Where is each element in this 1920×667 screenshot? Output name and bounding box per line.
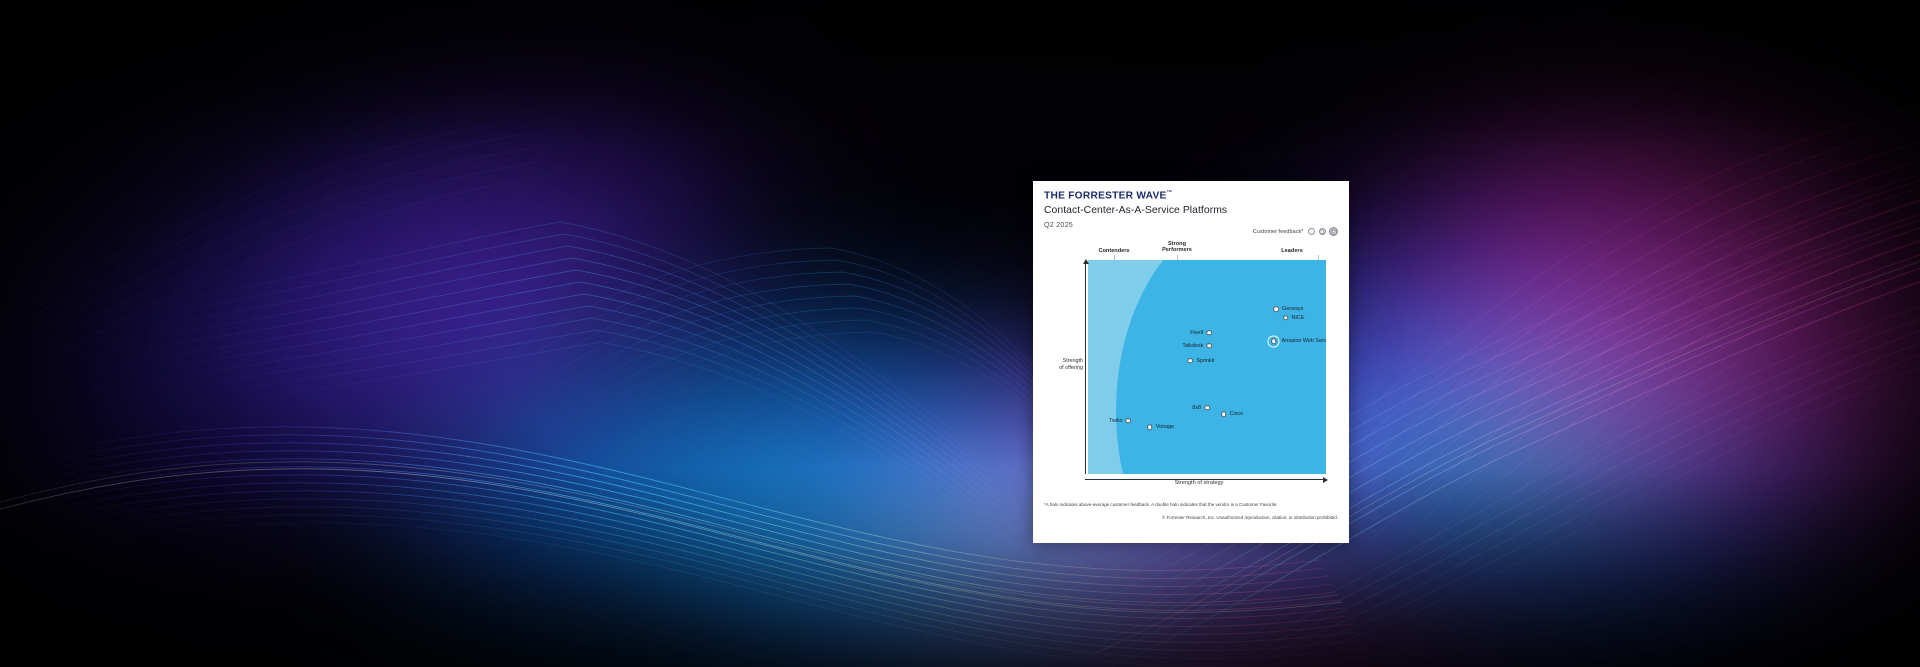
vendor-dot bbox=[1188, 358, 1194, 364]
vendor-dot bbox=[1271, 339, 1277, 345]
vendor-dot bbox=[1147, 424, 1153, 430]
quadrant-label-contenders: Contenders bbox=[1086, 248, 1142, 255]
vendor-dot bbox=[1204, 405, 1210, 411]
vendor-label: Amazon Web Services bbox=[1282, 338, 1326, 344]
vendor-dot bbox=[1283, 315, 1289, 321]
double-halo-circle-icon bbox=[1329, 227, 1338, 236]
card-eyebrow: THE FORRESTER WAVE™ bbox=[1044, 190, 1338, 202]
forrester-wave-card: THE FORRESTER WAVE™ Contact-Center-As-A-… bbox=[1033, 181, 1349, 543]
vendor-label: Vonage bbox=[1156, 424, 1174, 430]
trademark-mark: ™ bbox=[1167, 190, 1173, 196]
vendor-label: NICE bbox=[1292, 315, 1305, 321]
glow-cyan bbox=[307, 241, 1134, 667]
vendor-dot bbox=[1126, 418, 1132, 424]
wave-plot: Strengthof offering Genesys NICE Amazon … bbox=[1068, 260, 1330, 479]
legend-label: Customer feedback* bbox=[1253, 229, 1304, 235]
card-eyebrow-text: THE FORRESTER WAVE bbox=[1044, 190, 1167, 201]
vendor-dot bbox=[1221, 411, 1227, 417]
vendor-label: Cisco bbox=[1230, 411, 1243, 417]
plain-circle-icon bbox=[1308, 228, 1315, 235]
vendor-label: Twilio bbox=[1109, 418, 1122, 424]
vignette-overlay bbox=[0, 0, 1920, 667]
vendor-label: 8x8 bbox=[1192, 405, 1201, 411]
page-root: THE FORRESTER WAVE™ Contact-Center-As-A-… bbox=[0, 0, 1920, 667]
vendor-dot bbox=[1207, 330, 1213, 336]
y-axis bbox=[1085, 260, 1086, 474]
halo-circle-icon bbox=[1319, 228, 1326, 235]
x-axis-label: Strength of strategy bbox=[1068, 480, 1330, 486]
vendor-label: Genesys bbox=[1282, 306, 1303, 312]
customer-feedback-legend: Customer feedback* bbox=[1253, 227, 1338, 236]
glow-deep-blue bbox=[0, 32, 706, 638]
glow-right-magenta bbox=[1307, 0, 1920, 667]
wave-ribbon-lines bbox=[0, 0, 1920, 667]
vendor-label: Five9 bbox=[1190, 330, 1203, 336]
vendor-label: Sprinklr bbox=[1196, 358, 1214, 364]
footnote-halo: *A halo indicates above-average customer… bbox=[1044, 502, 1338, 507]
band-leaders bbox=[1116, 260, 1326, 474]
quadrant-label-strong-performers: StrongPerformers bbox=[1146, 241, 1208, 253]
background-wave-art bbox=[0, 0, 1920, 667]
quadrant-labels: Contenders StrongPerformers Leaders bbox=[1088, 243, 1328, 259]
quadrant-label-leaders: Leaders bbox=[1256, 248, 1328, 255]
vendor-dot bbox=[1207, 343, 1213, 349]
plot-area: Genesys NICE Amazon Web Services Five9 T… bbox=[1088, 260, 1326, 474]
vendor-label: Talkdesk bbox=[1182, 343, 1203, 349]
vendor-dot bbox=[1273, 306, 1279, 312]
page-title: Contact-Center-As-A-Service Platforms bbox=[1044, 205, 1338, 217]
y-axis-label: Strengthof offering bbox=[1049, 358, 1083, 372]
glow-violet bbox=[124, 0, 856, 581]
copyright-notice: © Forrester Research, Inc. Unauthorized … bbox=[1044, 515, 1338, 520]
